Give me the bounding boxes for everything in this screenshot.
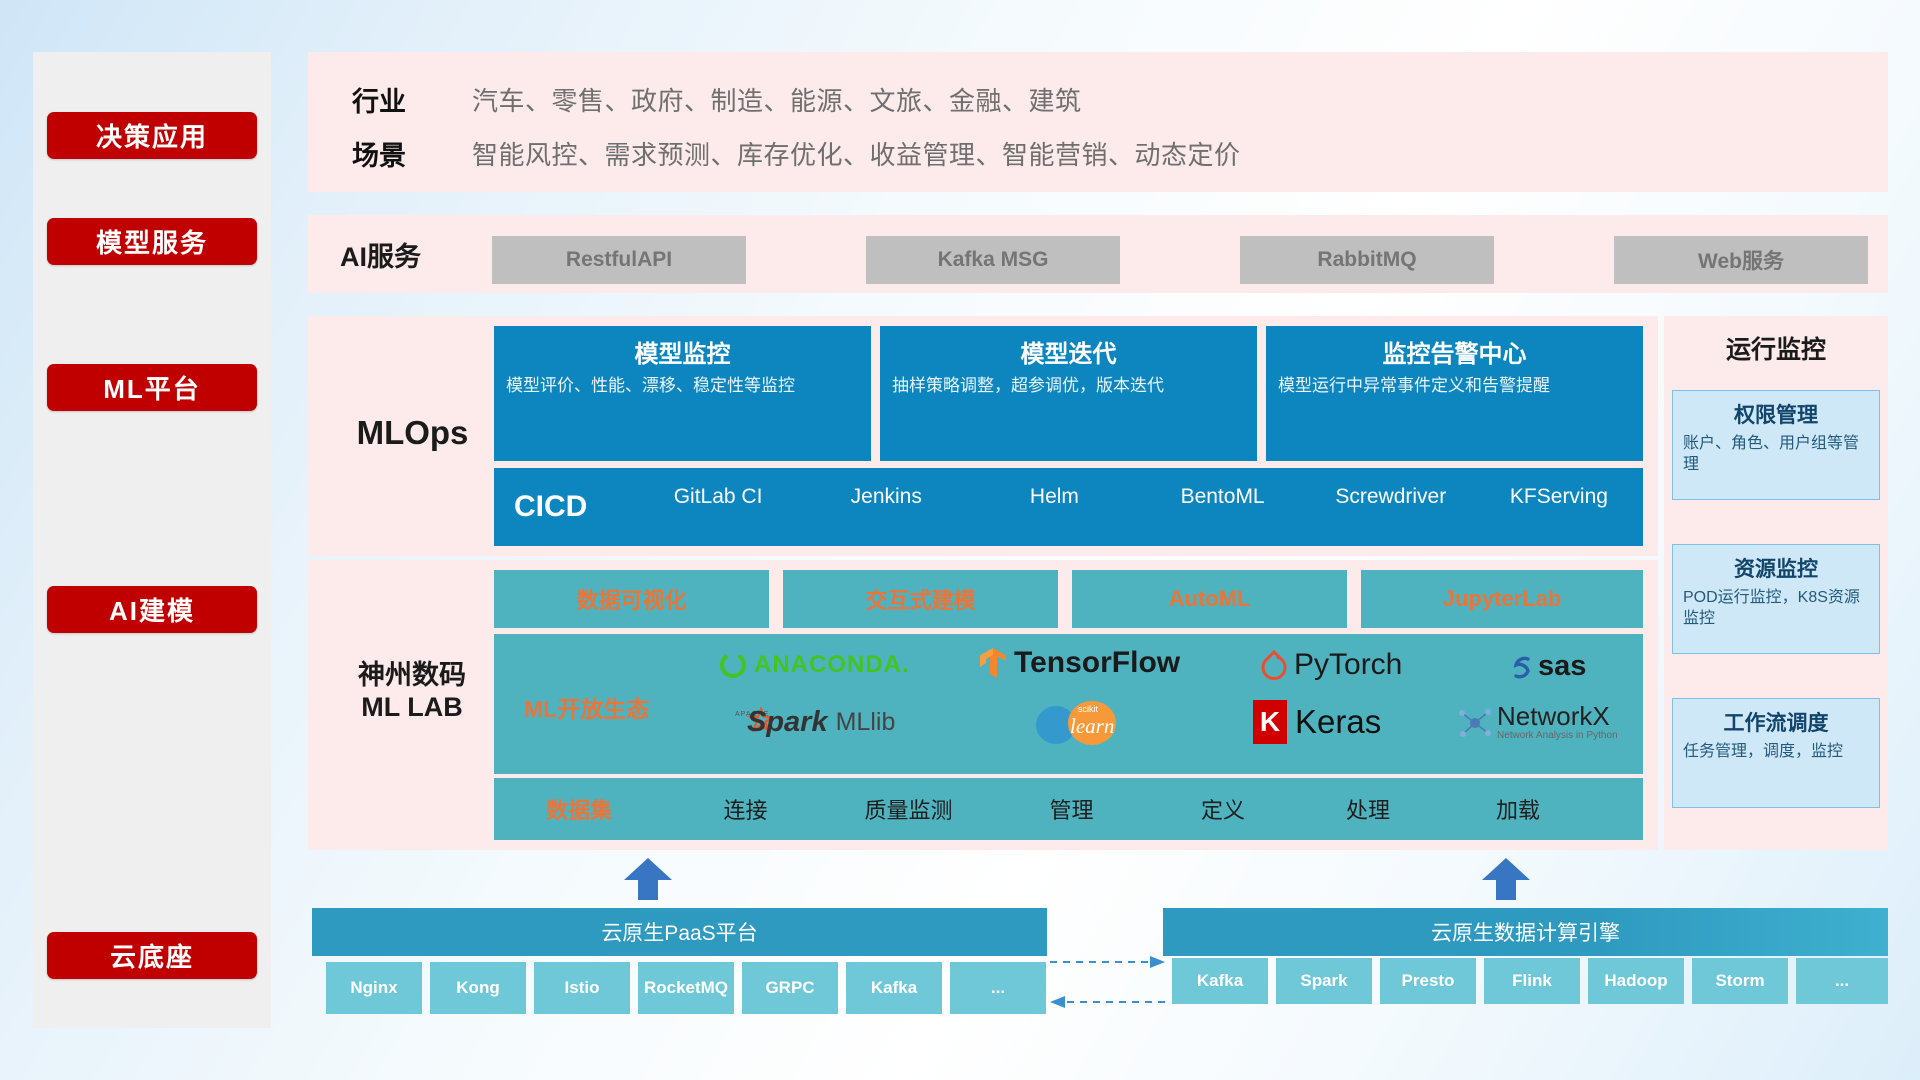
ai-service-chip-web-service[interactable]: Web服务 bbox=[1614, 236, 1868, 284]
layer-chip-cloud-base[interactable]: 云底座 bbox=[47, 932, 257, 979]
mlops-card-alert-center[interactable]: 监控告警中心 模型运行中异常事件定义和告警提醒 bbox=[1266, 326, 1643, 461]
mlops-card-model-iteration[interactable]: 模型迭代 抽样策略调整，超参调优，版本迭代 bbox=[880, 326, 1257, 461]
ml-ecosystem-label: ML开放生态 bbox=[524, 690, 649, 724]
monitoring-card-desc: 任务管理，调度，监控 bbox=[1683, 742, 1869, 763]
networkx-logo-text: NetworkX bbox=[1497, 703, 1618, 729]
mlops-card-title: 模型迭代 bbox=[892, 334, 1245, 369]
industry-key: 行业 bbox=[352, 80, 472, 119]
tensorflow-logo-text: TensorFlow bbox=[1014, 646, 1180, 680]
mlops-card-desc: 抽样策略调整，超参调优，版本迭代 bbox=[892, 375, 1245, 397]
cicd-item-jenkins[interactable]: Jenkins bbox=[802, 486, 970, 508]
sas-logo: sas bbox=[1508, 650, 1586, 683]
industry-value: 汽车、零售、政府、制造、能源、文旅、金融、建筑 bbox=[472, 81, 1082, 118]
layer-chip-model-service[interactable]: 模型服务 bbox=[47, 218, 257, 265]
monitoring-card-title: 工作流调度 bbox=[1683, 707, 1869, 737]
keras-logo-text: Keras bbox=[1295, 703, 1381, 741]
cicd-item-bentoml[interactable]: BentoML bbox=[1139, 486, 1307, 508]
pytorch-logo-text: PyTorch bbox=[1294, 648, 1402, 682]
keras-mark: K bbox=[1253, 700, 1287, 744]
arrow-up-paas-icon bbox=[620, 858, 676, 900]
cicd-title: CICD bbox=[514, 490, 634, 524]
tensorflow-logo: TensorFlow bbox=[978, 646, 1180, 680]
compute-chip-more[interactable]: ... bbox=[1796, 958, 1888, 1004]
paas-chip-kong[interactable]: Kong bbox=[430, 962, 526, 1014]
cicd-item-screwdriver[interactable]: Screwdriver bbox=[1307, 486, 1475, 508]
paas-chip-kafka[interactable]: Kafka bbox=[846, 962, 942, 1014]
ai-service-chip-restfulapi[interactable]: RestfulAPI bbox=[492, 236, 746, 284]
anaconda-logo: ANACONDA. bbox=[718, 650, 910, 680]
bidirectional-dashed-connector-icon bbox=[1050, 952, 1165, 1012]
ml-lab-label: 神州数码 ML LAB bbox=[322, 648, 502, 728]
spark-mllib-logo: APACHE Spark MLlib bbox=[735, 706, 895, 739]
cicd-bar: CICD GitLab CI Jenkins Helm BentoML Scre… bbox=[494, 468, 1643, 546]
monitoring-card-desc: 账户、角色、用户组等管理 bbox=[1683, 434, 1869, 476]
scenario-value: 智能风控、需求预测、库存优化、收益管理、智能营销、动态定价 bbox=[472, 135, 1241, 172]
data-compute-engine-bar[interactable]: 云原生数据计算引擎 bbox=[1163, 908, 1888, 956]
paas-chip-rocketmq[interactable]: RocketMQ bbox=[638, 962, 734, 1014]
networkx-logo-subtext: Network Analysis in Python bbox=[1497, 729, 1618, 742]
keras-logo: K Keras bbox=[1253, 700, 1381, 744]
cicd-item-gitlab-ci[interactable]: GitLab CI bbox=[634, 486, 802, 508]
dataset-item-load[interactable]: 加载 bbox=[1443, 793, 1593, 825]
ai-service-chip-kafka-msg[interactable]: Kafka MSG bbox=[866, 236, 1120, 284]
networkx-logo: NetworkX Network Analysis in Python bbox=[1457, 703, 1618, 742]
dataset-row: 数据集 连接 质量监测 管理 定义 处理 加载 bbox=[494, 778, 1643, 840]
paas-platform-bar[interactable]: 云原生PaaS平台 bbox=[312, 908, 1047, 956]
pytorch-logo: PyTorch bbox=[1260, 648, 1402, 682]
anaconda-logo-text: ANACONDA. bbox=[754, 651, 910, 679]
compute-chip-flink[interactable]: Flink bbox=[1484, 958, 1580, 1004]
monitoring-card-desc: POD运行监控，K8S资源监控 bbox=[1683, 588, 1869, 630]
dataset-item-connect[interactable]: 连接 bbox=[664, 793, 827, 825]
mlops-label: MLOps bbox=[330, 408, 495, 458]
compute-chip-kafka[interactable]: Kafka bbox=[1172, 958, 1268, 1004]
monitoring-card-title: 权限管理 bbox=[1683, 399, 1869, 429]
layer-chip-decision[interactable]: 决策应用 bbox=[47, 112, 257, 159]
dataset-item-process[interactable]: 处理 bbox=[1293, 793, 1443, 825]
compute-chip-presto[interactable]: Presto bbox=[1380, 958, 1476, 1004]
ai-service-label: AI服务 bbox=[340, 232, 490, 276]
svg-text:learn: learn bbox=[1070, 714, 1114, 738]
scikit-learn-logo: scikit learn bbox=[1030, 700, 1140, 746]
industry-row: 行业 汽车、零售、政府、制造、能源、文旅、金融、建筑 bbox=[352, 78, 1872, 120]
dataset-label: 数据集 bbox=[494, 793, 664, 825]
monitoring-card-title: 资源监控 bbox=[1683, 553, 1869, 583]
monitoring-card-resource[interactable]: 资源监控 POD运行监控，K8S资源监控 bbox=[1672, 544, 1880, 654]
monitoring-title: 运行监控 bbox=[1664, 330, 1888, 366]
ml-lab-tab-interactive-modeling[interactable]: 交互式建模 bbox=[783, 570, 1058, 628]
compute-chip-hadoop[interactable]: Hadoop bbox=[1588, 958, 1684, 1004]
compute-chip-storm[interactable]: Storm bbox=[1692, 958, 1788, 1004]
scenario-row: 场景 智能风控、需求预测、库存优化、收益管理、智能营销、动态定价 bbox=[352, 132, 1872, 174]
monitoring-card-workflow[interactable]: 工作流调度 任务管理，调度，监控 bbox=[1672, 698, 1880, 808]
cicd-item-helm[interactable]: Helm bbox=[970, 486, 1138, 508]
mlops-card-desc: 模型运行中异常事件定义和告警提醒 bbox=[1278, 375, 1631, 397]
cicd-items: GitLab CI Jenkins Helm BentoML Screwdriv… bbox=[634, 468, 1643, 546]
monitoring-card-permission[interactable]: 权限管理 账户、角色、用户组等管理 bbox=[1672, 390, 1880, 500]
cicd-item-kfserving[interactable]: KFServing bbox=[1475, 486, 1643, 508]
sas-logo-text: sas bbox=[1538, 650, 1586, 683]
svg-text:scikit: scikit bbox=[1078, 704, 1098, 714]
layer-chip-ai-modeling[interactable]: AI建模 bbox=[47, 586, 257, 633]
paas-chip-nginx[interactable]: Nginx bbox=[326, 962, 422, 1014]
ml-lab-tab-automl[interactable]: AutoML bbox=[1072, 570, 1347, 628]
mlops-card-desc: 模型评价、性能、漂移、稳定性等监控 bbox=[506, 375, 859, 397]
paas-chip-grpc[interactable]: GRPC bbox=[742, 962, 838, 1014]
mlops-card-model-monitor[interactable]: 模型监控 模型评价、性能、漂移、稳定性等监控 bbox=[494, 326, 871, 461]
layer-chip-ml-platform[interactable]: ML平台 bbox=[47, 364, 257, 411]
spark-logo-text: Spark bbox=[747, 706, 828, 739]
mllib-logo-text: MLlib bbox=[836, 708, 896, 737]
layer-rail: 决策应用 模型服务 ML平台 AI建模 云底座 bbox=[33, 52, 271, 1028]
paas-chip-istio[interactable]: Istio bbox=[534, 962, 630, 1014]
paas-chip-more[interactable]: ... bbox=[950, 962, 1046, 1014]
scenario-key: 场景 bbox=[352, 134, 472, 173]
mlops-card-title: 监控告警中心 bbox=[1278, 334, 1631, 369]
architecture-diagram: 决策应用 模型服务 ML平台 AI建模 云底座 行业 汽车、零售、政府、制造、能… bbox=[0, 0, 1920, 1080]
dataset-item-define[interactable]: 定义 bbox=[1153, 793, 1293, 825]
dataset-item-quality[interactable]: 质量监测 bbox=[827, 793, 990, 825]
ml-lab-tab-jupyterlab[interactable]: JupyterLab bbox=[1361, 570, 1643, 628]
arrow-up-compute-icon bbox=[1478, 858, 1534, 900]
mlops-card-title: 模型监控 bbox=[506, 334, 859, 369]
ml-lab-tab-data-visualization[interactable]: 数据可视化 bbox=[494, 570, 769, 628]
compute-chip-spark[interactable]: Spark bbox=[1276, 958, 1372, 1004]
ai-service-chip-rabbitmq[interactable]: RabbitMQ bbox=[1240, 236, 1494, 284]
dataset-item-manage[interactable]: 管理 bbox=[990, 793, 1153, 825]
